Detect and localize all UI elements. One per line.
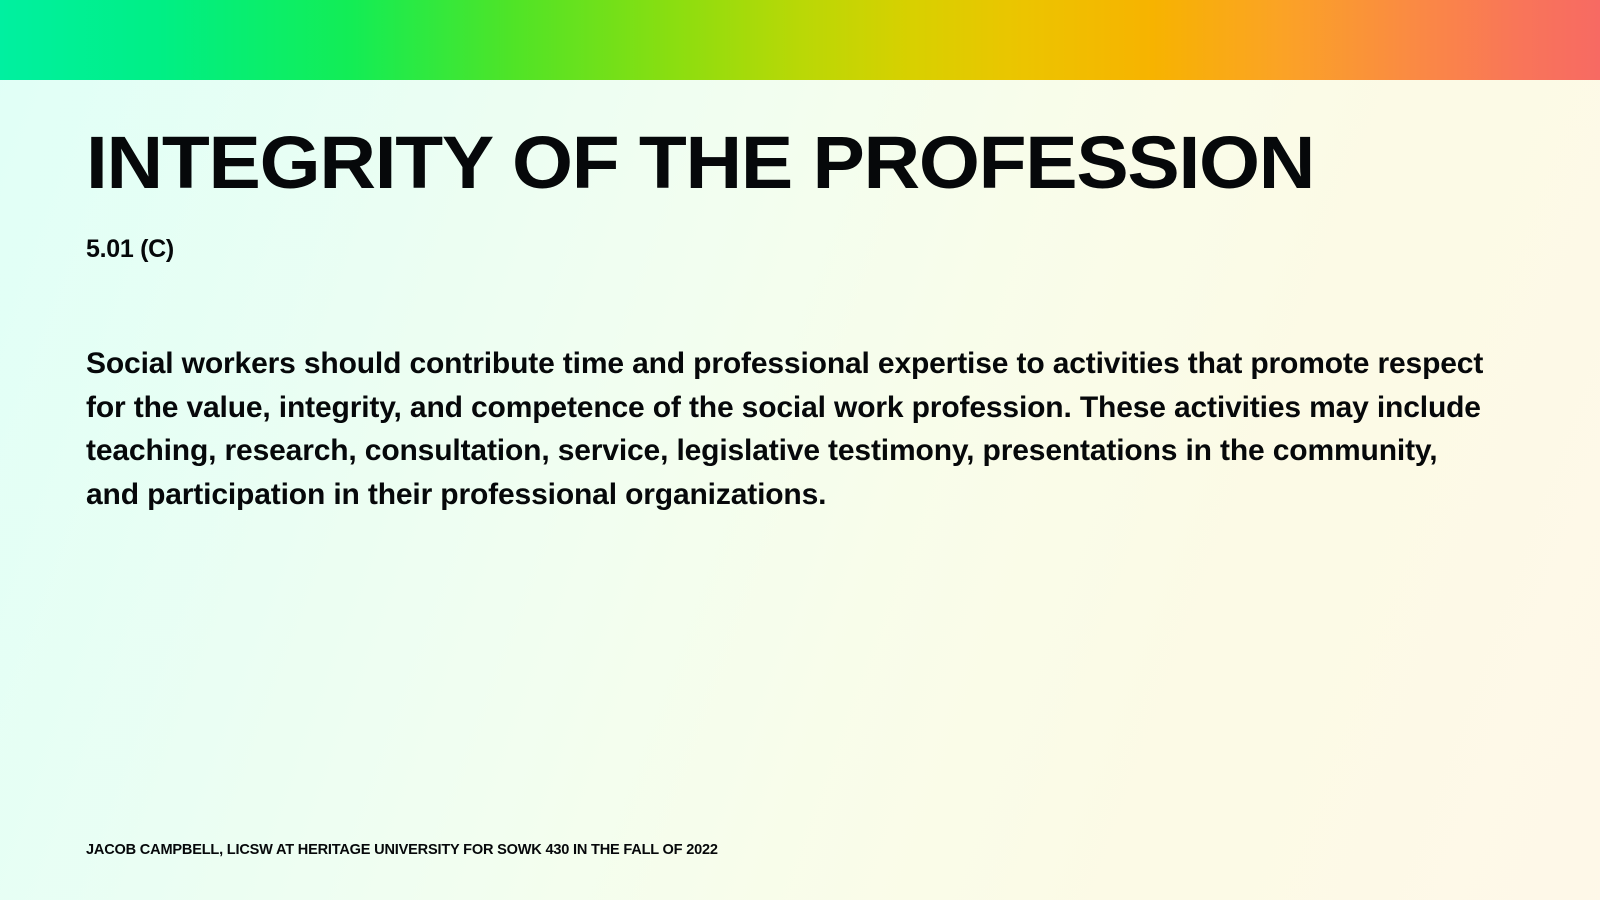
- slide-content: INTEGRITY OF THE PROFESSION 5.01 (C) Soc…: [0, 80, 1600, 900]
- top-gradient-bar: [0, 0, 1600, 80]
- section-number-subtitle: 5.01 (C): [86, 234, 174, 264]
- body-paragraph: Social workers should contribute time an…: [86, 342, 1486, 516]
- slide-root: INTEGRITY OF THE PROFESSION 5.01 (C) Soc…: [0, 0, 1600, 900]
- page-title: INTEGRITY OF THE PROFESSION: [86, 124, 1314, 202]
- footer-attribution: JACOB CAMPBELL, LICSW AT HERITAGE UNIVER…: [86, 840, 718, 860]
